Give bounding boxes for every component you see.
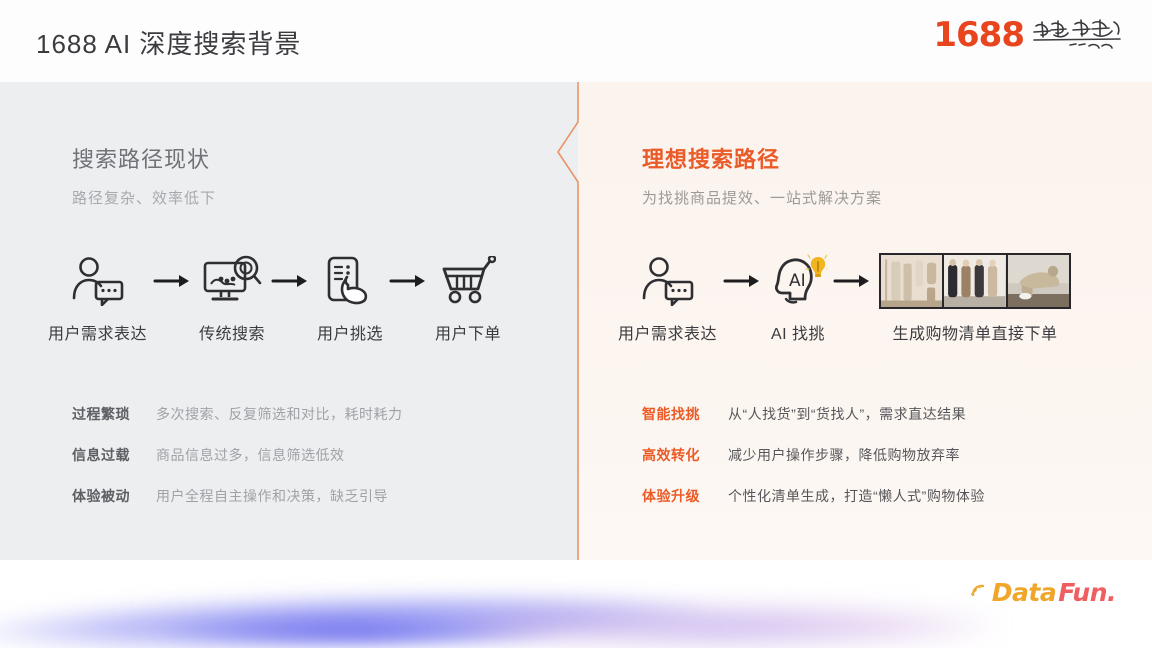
- left-panel-heading: 搜索路径现状: [72, 142, 210, 174]
- datafun-logo-fun: Fun.: [1058, 578, 1116, 607]
- flow-step-user-request-right: 用户需求表达: [618, 250, 717, 344]
- datafun-logo-data: Data: [992, 578, 1056, 607]
- left-panel-subheading: 路径复杂、效率低下: [72, 187, 216, 208]
- user-speech-icon: [640, 250, 696, 312]
- flow-step-user-request-left: 用户需求表达: [48, 250, 147, 344]
- bullet-value: 减少用户操作步骤，降低购物放弃率: [728, 445, 960, 465]
- flow-step-ai-pick: AI AI 找挑: [769, 250, 827, 344]
- slide-footer: Data Fun.: [0, 560, 1152, 648]
- panel-ideal-state: 理想搜索路径 为找挑商品提效、一站式解决方案: [578, 82, 1152, 560]
- right-bullet-list: 智能找挑 从“人找货”到“货找人”，需求直达结果 高效转化 减少用户操作步骤，降…: [642, 404, 985, 506]
- bullet-row: 信息过载 商品信息过多，信息筛选低效: [72, 445, 403, 465]
- monitor-search-icon: [202, 250, 262, 312]
- brand-calligraphy-icon: [1032, 18, 1124, 52]
- bullet-key: 体验被动: [72, 486, 156, 506]
- slide-header: 1688 AI 深度搜索背景 1688: [0, 0, 1152, 82]
- bullet-row: 过程繁琐 多次搜索、反复筛选和对比，耗时耗力: [72, 404, 403, 424]
- flow-step-label: 用户下单: [435, 320, 501, 344]
- bullet-key: 体验升级: [642, 486, 728, 506]
- flow-step-label: 传统搜索: [199, 320, 265, 344]
- flow-step-label: 用户需求表达: [618, 320, 717, 344]
- flow-step-label: 用户挑选: [317, 320, 383, 344]
- wave-decoration-purple: [440, 604, 1000, 648]
- product-thumb-models: [944, 255, 1005, 307]
- product-thumbnails: [879, 253, 1071, 309]
- product-image-strip: [879, 250, 1071, 312]
- datafun-mark-icon: [969, 582, 989, 604]
- right-panel-heading: 理想搜索路径: [642, 142, 780, 174]
- flow-step-label: AI 找挑: [771, 320, 825, 344]
- bullet-key: 智能找挑: [642, 404, 728, 424]
- flow-step-label: 用户需求表达: [48, 320, 147, 344]
- brand-1688-number: 1688: [933, 18, 1024, 52]
- bullet-key: 高效转化: [642, 445, 728, 465]
- bullet-row: 体验被动 用户全程自主操作和决策，缺乏引导: [72, 486, 403, 506]
- flow-arrow-icon: [383, 250, 435, 312]
- flow-arrow-icon: [265, 250, 317, 312]
- bullet-row: 高效转化 减少用户操作步骤，降低购物放弃率: [642, 445, 985, 465]
- flow-step-traditional-search: 传统搜索: [199, 250, 265, 344]
- bullet-key: 信息过载: [72, 445, 156, 465]
- bullet-row: 体验升级 个性化清单生成，打造“懒人式”购物体验: [642, 486, 985, 506]
- product-thumb-person-sitting: [1008, 255, 1069, 307]
- bullet-value: 用户全程自主操作和决策，缺乏引导: [156, 486, 388, 506]
- brand-1688-logo: 1688: [933, 18, 1124, 52]
- shopping-cart-icon: [440, 250, 496, 312]
- svg-text:AI: AI: [789, 271, 806, 291]
- flow-arrow-icon: [717, 250, 769, 312]
- left-flow-diagram: 用户需求表达: [48, 250, 501, 344]
- datafun-logo: Data Fun.: [969, 578, 1116, 607]
- product-thumb-clothes-rack: [881, 255, 942, 307]
- flow-step-user-select: 用户挑选: [317, 250, 383, 344]
- page-title: 1688 AI 深度搜索背景: [36, 24, 301, 61]
- flow-step-label: 生成购物清单直接下单: [893, 320, 1058, 344]
- panels-container: 搜索路径现状 路径复杂、效率低下: [0, 82, 1152, 560]
- slide-root: 1688 AI 深度搜索背景 1688: [0, 0, 1152, 648]
- bullet-value: 商品信息过多，信息筛选低效: [156, 445, 345, 465]
- flow-arrow-icon: [147, 250, 199, 312]
- bullet-value: 从“人找货”到“货找人”，需求直达结果: [728, 404, 966, 424]
- bullet-key: 过程繁琐: [72, 404, 156, 424]
- flow-arrow-icon: [827, 250, 879, 312]
- left-bullet-list: 过程繁琐 多次搜索、反复筛选和对比，耗时耗力 信息过载 商品信息过多，信息筛选低…: [72, 404, 403, 506]
- right-flow-diagram: 用户需求表达 AI: [618, 250, 1071, 344]
- ai-head-bulb-icon: AI: [769, 250, 827, 312]
- user-speech-icon: [70, 250, 126, 312]
- bullet-value: 个性化清单生成，打造“懒人式”购物体验: [728, 486, 985, 506]
- panel-current-state: 搜索路径现状 路径复杂、效率低下: [0, 82, 578, 560]
- right-panel-subheading: 为找挑商品提效、一站式解决方案: [642, 187, 882, 208]
- bullet-row: 智能找挑 从“人找货”到“货找人”，需求直达结果: [642, 404, 985, 424]
- phone-tap-icon: [323, 250, 377, 312]
- flow-step-place-order: 用户下单: [435, 250, 501, 344]
- flow-step-shopping-list: 生成购物清单直接下单: [879, 250, 1071, 344]
- bullet-value: 多次搜索、反复筛选和对比，耗时耗力: [156, 404, 403, 424]
